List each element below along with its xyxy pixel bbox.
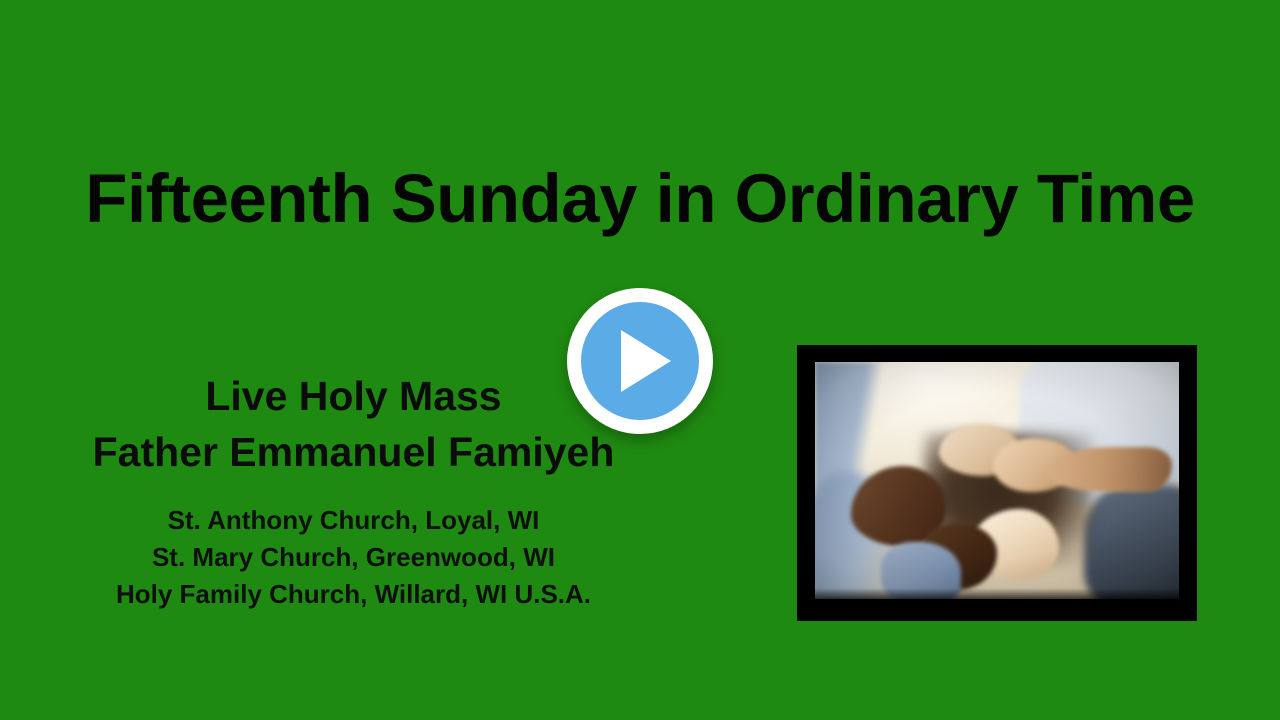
play-button[interactable] [567, 288, 713, 434]
headline-line-2: Father Emmanuel Famiyeh [20, 424, 687, 480]
page-title: Fifteenth Sunday in Ordinary Time [0, 164, 1280, 233]
video-thumbnail-slide: Fifteenth Sunday in Ordinary Time Live H… [0, 0, 1280, 720]
church-list-item: St. Mary Church, Greenwood, WI [20, 539, 687, 576]
church-list-item: St. Anthony Church, Loyal, WI [20, 502, 687, 539]
church-list-item: Holy Family Church, Willard, WI U.S.A. [20, 576, 687, 613]
photo-vignette-layer [815, 362, 1179, 599]
church-list: St. Anthony Church, Loyal, WI St. Mary C… [20, 502, 687, 613]
photo-bottom-shadow-layer [815, 588, 1179, 599]
photo-frame [797, 345, 1197, 621]
play-icon [621, 330, 671, 392]
prayer-hands-photo [815, 362, 1179, 599]
play-button-disc [581, 302, 699, 420]
